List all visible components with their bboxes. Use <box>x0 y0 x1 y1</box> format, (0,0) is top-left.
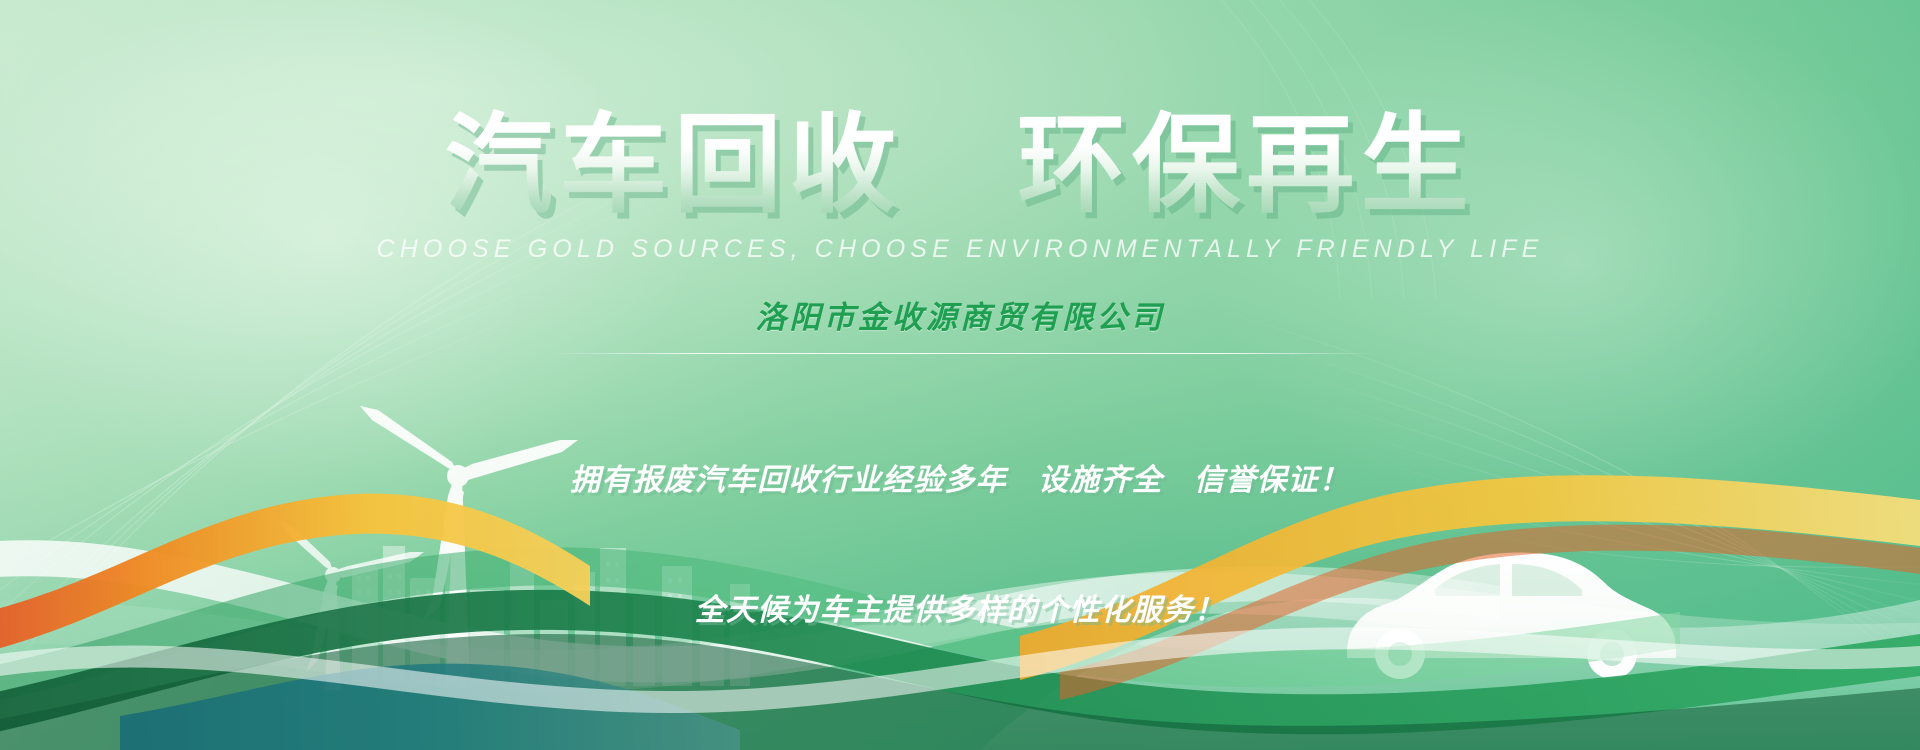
company-name: 洛阳市金收源商贸有限公司 <box>0 292 1920 337</box>
english-subtitle: CHOOSE GOLD SOURCES, CHOOSE ENVIRONMENTA… <box>0 235 1920 264</box>
tagline-line-2: 全天候为车主提供多样的个性化服务！ <box>0 589 1920 633</box>
tagline-group: 拥有报废汽车回收行业经验多年 设施齐全 信誉保证！ 全天候为车主提供多样的个性化… <box>0 372 1920 720</box>
tagline-line-1: 拥有报废汽车回收行业经验多年 设施齐全 信誉保证！ <box>0 459 1920 503</box>
divider <box>548 353 1372 354</box>
copy-block: 汽车回收 环保再生 CHOOSE GOLD SOURCES, CHOOSE EN… <box>0 0 1920 720</box>
page-title: 汽车回收 环保再生 <box>0 108 1920 225</box>
banner-root: 汽车回收 环保再生 CHOOSE GOLD SOURCES, CHOOSE EN… <box>0 0 1920 750</box>
